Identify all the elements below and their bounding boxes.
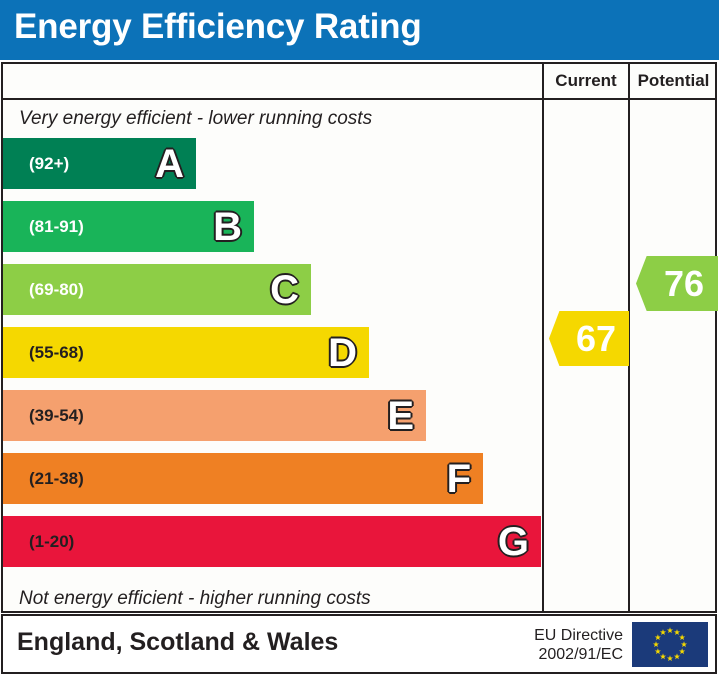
band-letter-d: D bbox=[328, 333, 357, 373]
eu-flag-icon bbox=[632, 622, 708, 667]
band-range-b: (81-91) bbox=[29, 217, 84, 237]
band-range-d: (55-68) bbox=[29, 343, 84, 363]
footer-region-label: England, Scotland & Wales bbox=[17, 628, 338, 657]
band-b: (81-91)B bbox=[3, 201, 254, 252]
caption-efficient: Very energy efficient - lower running co… bbox=[19, 108, 372, 130]
band-g: (1-20)G bbox=[3, 516, 541, 567]
column-header-potential: Potential bbox=[628, 64, 717, 98]
column-header-current: Current bbox=[542, 64, 628, 98]
band-a: (92+)A bbox=[3, 138, 196, 189]
band-e: (39-54)E bbox=[3, 390, 426, 441]
band-letter-c: C bbox=[270, 270, 299, 310]
band-range-f: (21-38) bbox=[29, 469, 84, 489]
band-d: (55-68)D bbox=[3, 327, 369, 378]
column-divider-current bbox=[542, 100, 544, 611]
footer-directive: EU Directive 2002/91/EC bbox=[515, 626, 623, 664]
directive-line-1: EU Directive bbox=[515, 626, 623, 645]
band-letter-g: G bbox=[498, 522, 529, 562]
band-range-e: (39-54) bbox=[29, 406, 84, 426]
band-range-a: (92+) bbox=[29, 154, 69, 174]
rating-marker-potential: 76 bbox=[636, 256, 718, 311]
page-title: Energy Efficiency Rating bbox=[14, 7, 422, 47]
band-letter-b: B bbox=[213, 207, 242, 247]
band-letter-e: E bbox=[387, 396, 414, 436]
band-range-g: (1-20) bbox=[29, 532, 74, 552]
rating-marker-current: 67 bbox=[549, 311, 629, 366]
footer: England, Scotland & Wales EU Directive 2… bbox=[1, 614, 717, 674]
directive-line-2: 2002/91/EC bbox=[515, 645, 623, 664]
caption-inefficient: Not energy efficient - higher running co… bbox=[19, 588, 371, 610]
band-range-c: (69-80) bbox=[29, 280, 84, 300]
eu-stars bbox=[632, 622, 708, 667]
rating-chart: Current Potential Very energy efficient … bbox=[1, 62, 717, 613]
band-letter-a: A bbox=[155, 144, 184, 184]
band-c: (69-80)C bbox=[3, 264, 311, 315]
title-bar: Energy Efficiency Rating bbox=[0, 0, 719, 60]
energy-efficiency-rating-certificate: Energy Efficiency Rating Current Potenti… bbox=[0, 0, 719, 675]
band-f: (21-38)F bbox=[3, 453, 483, 504]
column-header-row: Current Potential bbox=[3, 64, 715, 100]
band-list: (92+)A(81-91)B(69-80)C(55-68)D(39-54)E(2… bbox=[3, 138, 542, 583]
band-letter-f: F bbox=[447, 459, 471, 499]
